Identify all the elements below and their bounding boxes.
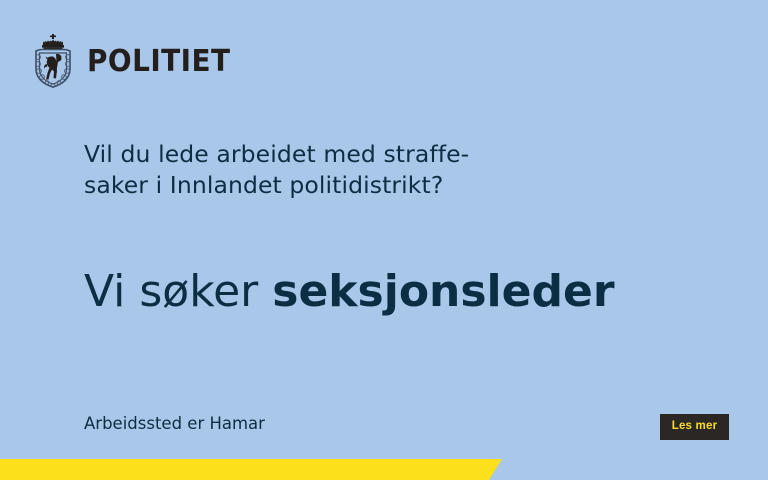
headline: Vi søker seksjonsleder	[84, 266, 615, 318]
politiet-wordmark: POLITIET	[87, 47, 231, 77]
norwegian-coat-of-arms-icon	[27, 33, 79, 89]
politiet-logo[interactable]: POLITIET	[27, 33, 241, 89]
headline-prefix: Vi søker	[84, 266, 272, 317]
les-mer-button-label: Les mer	[672, 421, 718, 433]
yellow-accent-stripe	[0, 459, 502, 480]
question-line-1: Vil du lede arbeidet med straffe-	[84, 139, 554, 170]
headline-role: seksjonsleder	[272, 266, 614, 317]
question-line-2: saker i Innlandet politidistrikt?	[84, 170, 554, 201]
location-text: Arbeidssted er Hamar	[84, 413, 265, 435]
les-mer-button[interactable]: Les mer	[660, 414, 729, 440]
recruitment-banner: POLITIET Vil du lede arbeidet med straff…	[0, 0, 768, 480]
question-text: Vil du lede arbeidet med straffe- saker …	[84, 139, 554, 201]
